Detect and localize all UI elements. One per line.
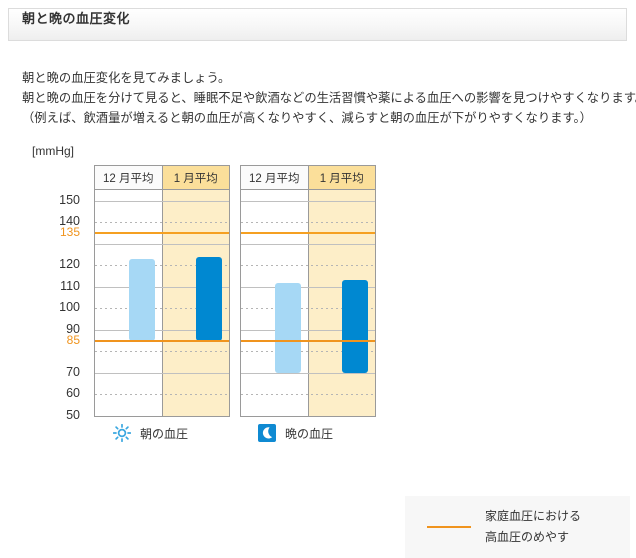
y-tick-120: 120 xyxy=(34,258,80,270)
threshold-line-135 xyxy=(95,232,229,234)
y-tick-150: 150 xyxy=(34,194,80,206)
threshold-line-135 xyxy=(241,232,375,234)
gridline-150 xyxy=(241,201,375,202)
gridline-150 xyxy=(95,201,229,202)
intro-line-3: （例えば、飲酒量が増えると朝の血圧が高くなりやすく、減らすと朝の血圧が下がりやす… xyxy=(22,108,622,128)
intro-line-2: 朝と晩の血圧を分けて見ると、睡眠不足や飲酒などの生活習慣や薬による血圧への影響を… xyxy=(22,88,622,108)
bar-jan xyxy=(196,257,222,341)
gridline-130 xyxy=(95,244,229,245)
column-divider xyxy=(308,190,309,416)
bar-dec xyxy=(275,283,301,373)
gridline-70 xyxy=(241,373,375,374)
y-axis: 1501401351201101009085706050 xyxy=(24,140,80,420)
threshold-legend-text: 家庭血圧における 高血圧のめやす xyxy=(485,506,581,548)
threshold-legend-line-2: 高血圧のめやす xyxy=(485,527,581,548)
y-tick-100: 100 xyxy=(34,301,80,313)
plot-area-morning xyxy=(95,190,229,416)
series-label-morning: 朝の血圧 xyxy=(140,425,188,442)
threshold-line-swatch xyxy=(427,526,471,528)
gridline-60 xyxy=(241,394,375,395)
y-tick-135: 135 xyxy=(34,226,80,238)
gridline-140 xyxy=(95,222,229,223)
gridline-60 xyxy=(95,394,229,395)
blood-pressure-chart: [mmHg] 1501401351201101009085706050 12 月… xyxy=(0,140,636,449)
column-header-dec-evening: 12 月平均 xyxy=(241,166,309,189)
bar-dec xyxy=(129,259,155,341)
gridline-80 xyxy=(95,351,229,352)
threshold-legend-line-1: 家庭血圧における xyxy=(485,506,581,527)
chart-panel-evening: 12 月平均 1 月平均 xyxy=(240,165,376,417)
threshold-legend-box: 家庭血圧における 高血圧のめやす xyxy=(405,496,630,558)
intro-line-1: 朝と晩の血圧変化を見てみましょう。 xyxy=(22,68,622,88)
gridline-140 xyxy=(241,222,375,223)
series-legend-evening: 晩の血圧 xyxy=(258,421,333,445)
series-legend-morning: 朝の血圧 xyxy=(113,421,188,445)
column-header-dec-morning: 12 月平均 xyxy=(95,166,163,189)
plot-area-evening xyxy=(241,190,375,416)
y-tick-60: 60 xyxy=(34,387,80,399)
gridline-130 xyxy=(241,244,375,245)
y-tick-50: 50 xyxy=(34,409,80,421)
intro-text: 朝と晩の血圧変化を見てみましょう。 朝と晩の血圧を分けて見ると、睡眠不足や飲酒な… xyxy=(22,68,622,128)
gridline-120 xyxy=(241,265,375,266)
column-header-jan-morning: 1 月平均 xyxy=(163,166,230,189)
column-divider xyxy=(162,190,163,416)
bar-jan xyxy=(342,280,368,373)
threshold-line-85 xyxy=(241,340,375,342)
gridline-70 xyxy=(95,373,229,374)
moon-icon xyxy=(258,424,276,442)
threshold-line-85 xyxy=(95,340,229,342)
panel-header-row-morning: 12 月平均 1 月平均 xyxy=(95,166,229,190)
y-tick-70: 70 xyxy=(34,366,80,378)
series-label-evening: 晩の血圧 xyxy=(285,425,333,442)
page-title: 朝と晩の血圧変化 xyxy=(22,8,130,27)
column-header-jan-evening: 1 月平均 xyxy=(309,166,376,189)
chart-panel-morning: 12 月平均 1 月平均 xyxy=(94,165,230,417)
panel-header-row-evening: 12 月平均 1 月平均 xyxy=(241,166,375,190)
y-tick-85: 85 xyxy=(34,334,80,346)
sun-icon xyxy=(113,424,131,442)
y-tick-110: 110 xyxy=(34,280,80,292)
